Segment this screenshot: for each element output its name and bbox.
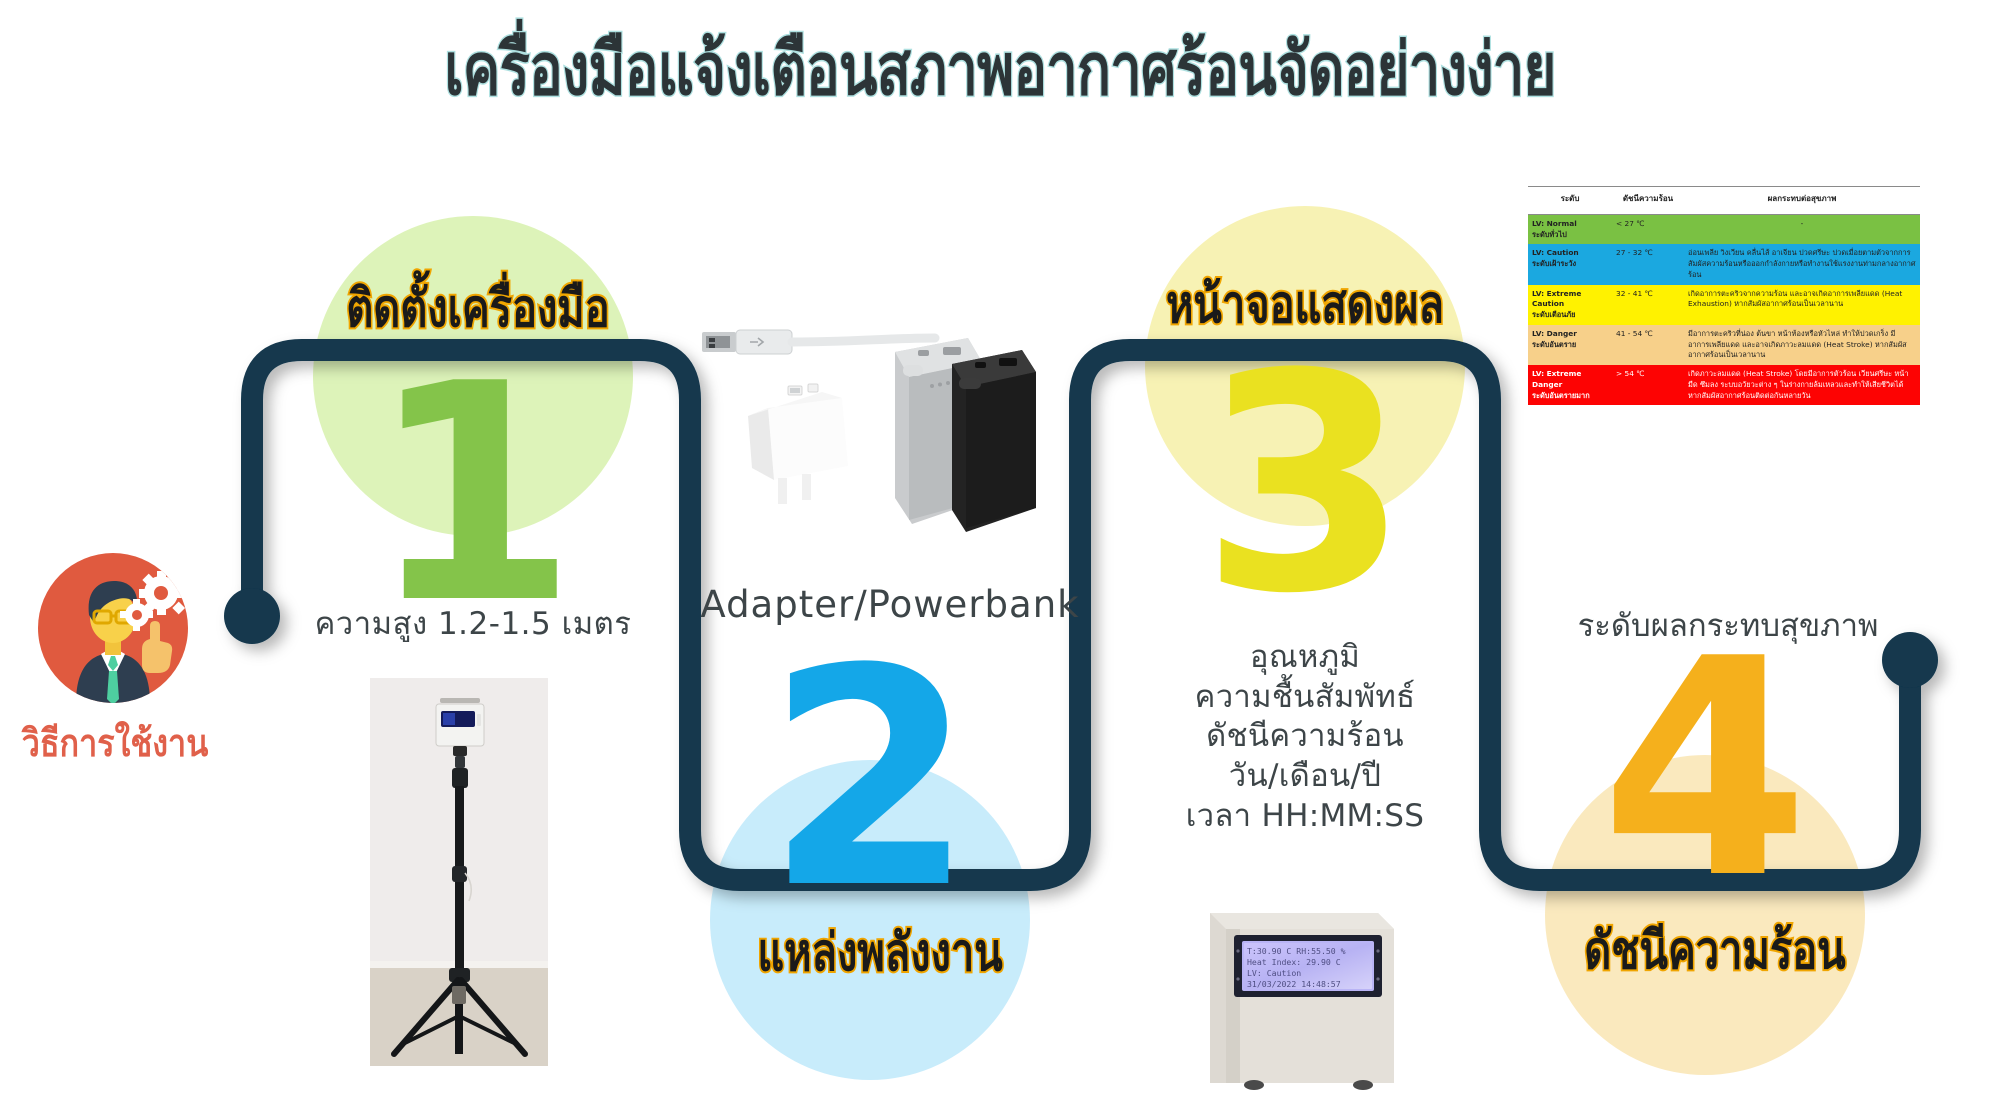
adapter-cable-powerbank-photo — [690, 320, 1090, 550]
heat-index-table: ระดับ ดัชนีความร้อน ผลกระทบต่อสุขภาพ LV:… — [1528, 186, 1920, 405]
row-effect: อ่อนเพลีย วิงเวียน คลื่นไส้ อาเจียน ปวดศ… — [1684, 244, 1920, 284]
table-row: LV: Normalระดับทั่วไป < 27 ℃ - — [1528, 215, 1920, 245]
row-level: LV: Extreme Cautionระดับเตือนภัย — [1528, 285, 1612, 325]
lcd-line-2: Heat Index: 29.90 C — [1247, 957, 1341, 967]
step-3-caption-line: วัน/เดือน/ปี — [1105, 757, 1505, 797]
table-row: LV: Cautionระดับเฝ้าระวัง 27 - 32 ℃ อ่อน… — [1528, 244, 1920, 284]
row-level: LV: Dangerระดับอันตราย — [1528, 325, 1612, 365]
device-on-tripod-photo — [370, 678, 548, 1066]
lcd-line-3: LV: Caution — [1247, 968, 1301, 978]
step-4-heading: ดัชนีความร้อน — [1547, 908, 1883, 991]
row-index: 27 - 32 ℃ — [1612, 244, 1684, 284]
row-level: LV: Normalระดับทั่วไป — [1528, 215, 1612, 245]
row-effect: เกิดอาการตะคริวจากความร้อน และอาจเกิดอาก… — [1684, 285, 1920, 325]
step-4-number: 4 — [1545, 620, 1865, 920]
howto-icon-badge — [38, 553, 188, 703]
howto-label: วิธีการใช้งาน — [17, 712, 213, 773]
step-2-number: 2 — [710, 630, 1030, 930]
row-level: LV: Extreme Dangerระดับอันตรายมาก — [1528, 365, 1612, 405]
infographic-canvas: เครื่องมือแจ้งเตือนสภาพอากาศร้อนจัดอย่าง… — [0, 0, 2000, 1111]
table-row: LV: Extreme Dangerระดับอันตรายมาก > 54 ℃… — [1528, 365, 1920, 405]
row-effect: เกิดภาวะลมแดด (Heat Stroke) โดยมีอาการตั… — [1684, 365, 1920, 405]
lcd-line-1: T:30.90 C RH:55.50 % — [1247, 946, 1346, 956]
table-header-index: ดัชนีความร้อน — [1612, 187, 1684, 215]
row-level: LV: Cautionระดับเฝ้าระวัง — [1528, 244, 1612, 284]
step-3-caption-line: เวลา HH:MM:SS — [1105, 797, 1505, 837]
step-2-heading: แหล่งพลังงาน — [712, 910, 1048, 993]
step-3-caption-line: ความชื้นสัมพัทธ์ — [1105, 678, 1505, 718]
step-3-caption-line: อุณหภูมิ — [1105, 638, 1505, 678]
table-header-row: ระดับ ดัชนีความร้อน ผลกระทบต่อสุขภาพ — [1528, 187, 1920, 215]
table-header-level: ระดับ — [1528, 187, 1612, 215]
step-3-caption-lines: อุณหภูมิ ความชื้นสัมพัทธ์ ดัชนีความร้อน … — [1105, 638, 1505, 836]
step-3-caption-line: ดัชนีความร้อน — [1105, 717, 1505, 757]
table-row: LV: Extreme Cautionระดับเตือนภัย 32 - 41… — [1528, 285, 1920, 325]
step-3-number: 3 — [1145, 335, 1465, 635]
row-index: 32 - 41 ℃ — [1612, 285, 1684, 325]
man-with-gears-icon — [38, 553, 188, 703]
table-header-effect: ผลกระทบต่อสุขภาพ — [1684, 187, 1920, 215]
row-index: 41 - 54 ℃ — [1612, 325, 1684, 365]
row-index: < 27 ℃ — [1612, 215, 1684, 245]
lcd-display-unit-photo: T:30.90 C RH:55.50 % Heat Index: 29.90 C… — [1188, 905, 1410, 1103]
lcd-line-4: 31/03/2022 14:48:57 — [1247, 979, 1341, 989]
step-1-caption: ความสูง 1.2-1.5 เมตร — [273, 598, 673, 648]
table-row: LV: Dangerระดับอันตราย 41 - 54 ℃ มีอาการ… — [1528, 325, 1920, 365]
row-index: > 54 ℃ — [1612, 365, 1684, 405]
page-title: เครื่องมือแจ้งเตือนสภาพอากาศร้อนจัดอย่าง… — [220, 28, 1780, 111]
row-effect: มีอาการตะคริวที่น่อง ต้นขา หน้าท้องหรือห… — [1684, 325, 1920, 365]
row-effect: - — [1684, 215, 1920, 245]
